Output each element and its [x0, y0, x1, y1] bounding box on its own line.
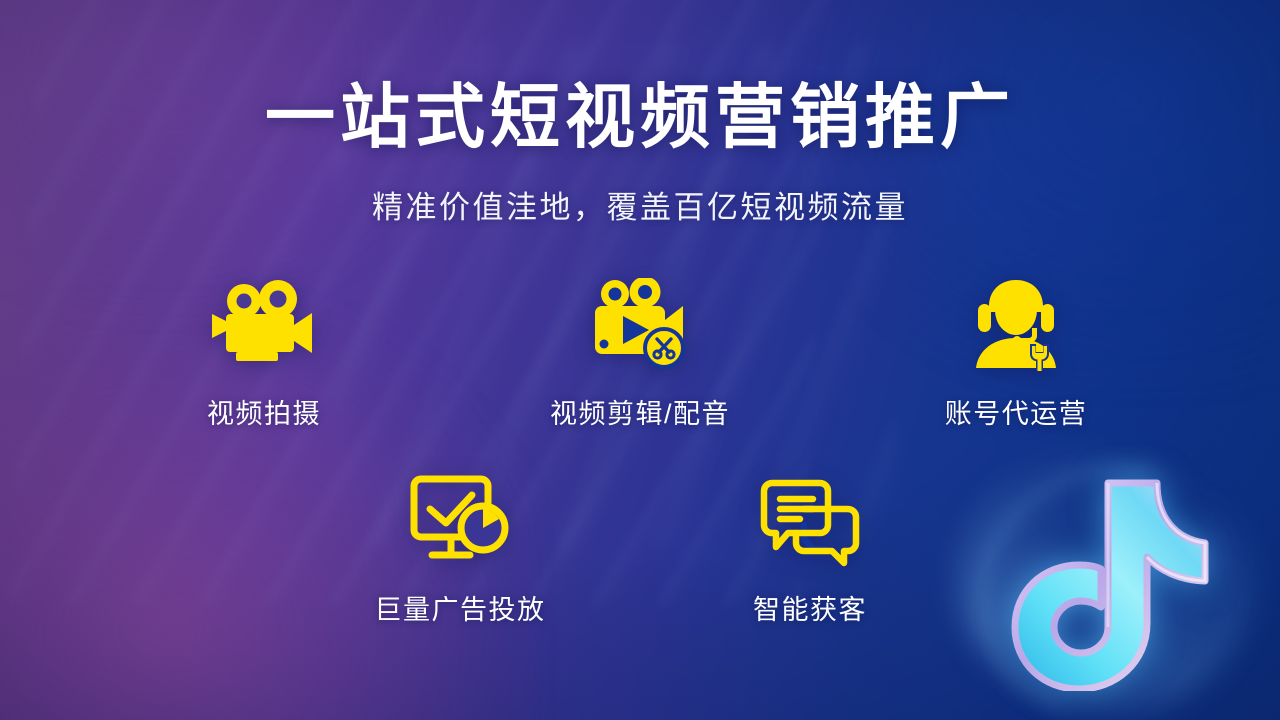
feature-label: 巨量广告投放	[375, 588, 546, 627]
headset-operator-wrench-icon	[964, 272, 1068, 376]
feature-label: 智能获客	[753, 588, 867, 627]
feature-label: 账号代运营	[945, 392, 1088, 431]
feature-label: 视频拍摄	[207, 392, 321, 431]
movie-camera-icon	[206, 272, 322, 376]
feature-item-smart-customer-acquisition[interactable]: 智能获客	[700, 468, 920, 627]
feature-item-video-shooting[interactable]: 视频拍摄	[154, 272, 374, 431]
page-subtitle: 精准价值洼地，覆盖百亿短视频流量	[0, 182, 1280, 227]
video-edit-scissors-icon	[579, 272, 701, 376]
feature-row-primary: 视频拍摄	[0, 272, 1280, 431]
logo-note-mark	[956, 444, 1256, 714]
promo-banner: 一站式短视频营销推广 精准价值洼地，覆盖百亿短视频流量 视频拍摄	[0, 0, 1280, 720]
chat-bubbles-icon	[758, 468, 862, 572]
feature-item-ad-placement[interactable]: 巨量广告投放	[350, 468, 570, 627]
page-title: 一站式短视频营销推广	[0, 80, 1280, 154]
monitor-check-chart-icon	[406, 468, 514, 572]
feature-item-video-editing[interactable]: 视频剪辑/配音	[530, 272, 750, 431]
feature-label: 视频剪辑/配音	[550, 392, 730, 431]
douyin-music-note-logo	[956, 444, 1256, 714]
feature-item-account-operation[interactable]: 账号代运营	[906, 272, 1126, 431]
